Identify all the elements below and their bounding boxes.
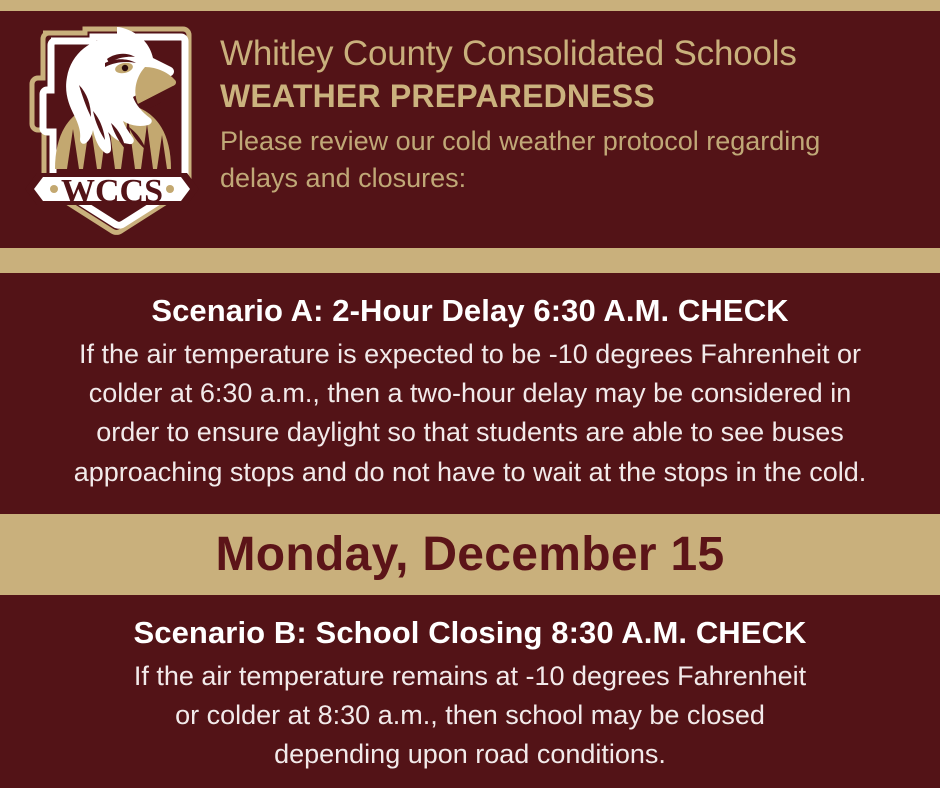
scenario-b-line-3: depending upon road conditions.: [16, 735, 924, 774]
school-name: Whitley County Consolidated Schools: [220, 33, 926, 74]
scenario-a-heading: Scenario A: 2-Hour Delay 6:30 A.M. CHECK: [16, 291, 924, 331]
logo-container: WCCS: [0, 11, 220, 248]
top-gold-strip: [0, 0, 940, 11]
scenario-b-body: If the air temperature remains at -10 de…: [16, 657, 924, 775]
header-gold-divider: [0, 248, 940, 273]
scenario-b-heading: Scenario B: School Closing 8:30 A.M. CHE…: [16, 613, 924, 653]
scenario-b-line-2: or colder at 8:30 a.m., then school may …: [16, 696, 924, 735]
date-banner: Monday, December 15: [0, 514, 940, 595]
header-text-block: Whitley County Consolidated Schools WEAT…: [220, 11, 940, 197]
weather-preparedness-poster: WCCS Whitley County Consolidated Schools…: [0, 0, 940, 788]
scenario-a-line-1: If the air temperature is expected to be…: [16, 335, 924, 374]
wccs-ribbon: WCCS: [25, 173, 199, 210]
header-band: WCCS Whitley County Consolidated Schools…: [0, 11, 940, 248]
header-subtitle-line-1: Please review our cold weather protocol …: [220, 123, 920, 160]
wccs-ribbon-text: WCCS: [60, 173, 162, 210]
date-text: Monday, December 15: [216, 531, 725, 579]
scenario-a-line-2: colder at 6:30 a.m., then a two-hour del…: [16, 374, 924, 413]
scenario-a-line-4: approaching stops and do not have to wai…: [16, 453, 924, 492]
wccs-eagle-logo: WCCS: [21, 19, 206, 241]
scenario-a-section: Scenario A: 2-Hour Delay 6:30 A.M. CHECK…: [0, 273, 940, 514]
scenario-b-section: Scenario B: School Closing 8:30 A.M. CHE…: [0, 595, 940, 788]
header-subtitle-line-2: delays and closures:: [220, 160, 920, 197]
header-subtitle: Please review our cold weather protocol …: [220, 123, 920, 196]
scenario-b-line-1: If the air temperature remains at -10 de…: [16, 657, 924, 696]
poster-title: WEATHER PREPAREDNESS: [220, 76, 926, 116]
scenario-a-body: If the air temperature is expected to be…: [16, 335, 924, 493]
scenario-a-line-3: order to ensure daylight so that student…: [16, 413, 924, 452]
